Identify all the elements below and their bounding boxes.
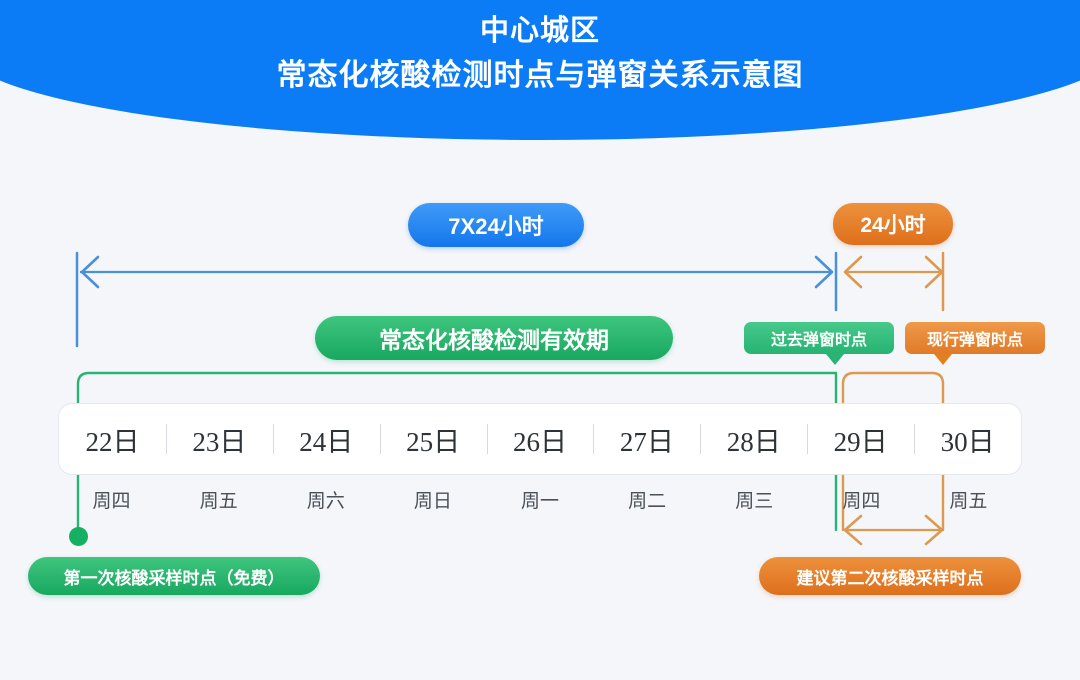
weekday-cell: 周五 <box>165 486 272 513</box>
date-strip: 22日 23日 24日 25日 26日 27日 28日 29日 30日 <box>58 403 1022 475</box>
date-cell: 22日 <box>59 420 166 459</box>
weekday-cell: 周六 <box>272 486 379 513</box>
badge-7x24-hours: 7X24小时 <box>408 203 584 247</box>
date-cell: 27日 <box>593 420 700 459</box>
triangle-pointer-current-icon <box>934 354 952 365</box>
weekday-cell: 周二 <box>594 486 701 513</box>
orange-arrowhead-right <box>926 257 942 287</box>
triangle-pointer-past-icon <box>826 354 844 365</box>
date-cell: 28日 <box>700 420 807 459</box>
bottom-orange-arrowhead-left <box>845 516 861 544</box>
badge-validity-period: 常态化核酸检测有效期 <box>315 316 673 360</box>
infographic-page: 中心城区 常态化核酸检测时点与弹窗关系示意图 7X24小时 24小时 常态化核酸… <box>0 0 1080 680</box>
weekday-cell: 周日 <box>379 486 486 513</box>
weekday-cell: 周五 <box>915 486 1022 513</box>
weekday-cell: 周三 <box>701 486 808 513</box>
first-sample-dot-icon <box>69 527 88 546</box>
weekday-cell: 周一 <box>486 486 593 513</box>
date-cell: 24日 <box>273 420 380 459</box>
date-cell: 30日 <box>914 420 1021 459</box>
badge-current-popup-point: 现行弹窗时点 <box>905 322 1045 354</box>
blue-arrowhead-right <box>816 257 832 287</box>
date-cell: 23日 <box>166 420 273 459</box>
date-cell: 29日 <box>807 420 914 459</box>
bottom-orange-arrowhead-right <box>926 516 942 544</box>
badge-24-hours: 24小时 <box>833 203 953 245</box>
orange-arrowhead-left <box>845 257 861 287</box>
header-banner: 中心城区 常态化核酸检测时点与弹窗关系示意图 <box>0 0 1080 140</box>
weekday-row: 周四 周五 周六 周日 周一 周二 周三 周四 周五 <box>58 482 1022 516</box>
weekday-cell: 周四 <box>808 486 915 513</box>
page-title-primary: 中心城区 <box>0 10 1080 52</box>
weekday-cell: 周四 <box>58 486 165 513</box>
page-title-secondary: 常态化核酸检测时点与弹窗关系示意图 <box>0 54 1080 98</box>
date-cell: 25日 <box>380 420 487 459</box>
badge-second-sample-point: 建议第二次核酸采样时点 <box>759 557 1021 595</box>
badge-past-popup-point: 过去弹窗时点 <box>744 322 894 354</box>
badge-first-sample-point: 第一次核酸采样时点（免费） <box>28 557 320 595</box>
header-text-block: 中心城区 常态化核酸检测时点与弹窗关系示意图 <box>0 0 1080 98</box>
blue-arrowhead-left <box>82 257 98 287</box>
date-cell: 26日 <box>487 420 594 459</box>
